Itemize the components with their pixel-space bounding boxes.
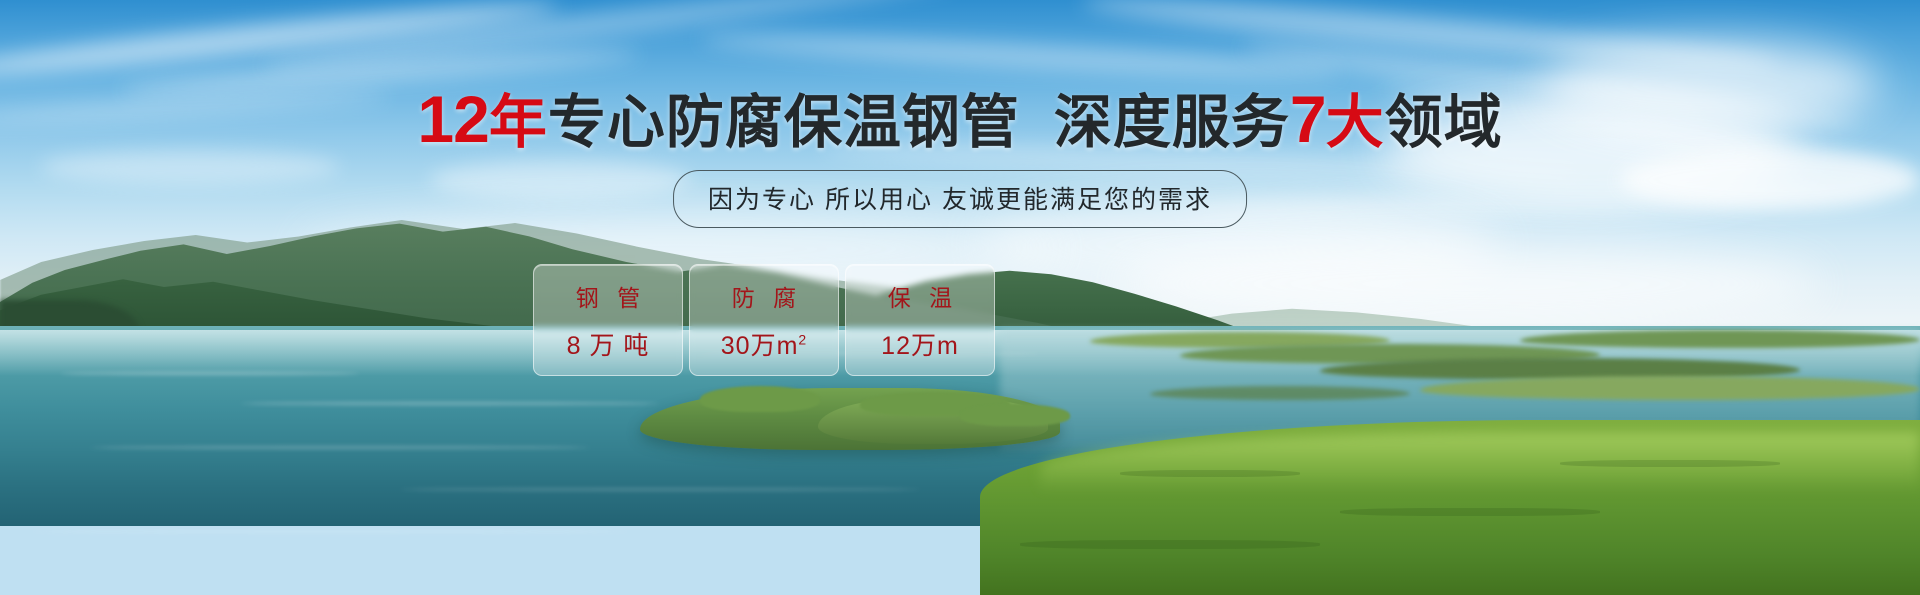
stat-card-group: 钢 管 8 万 吨 防 腐 30万m2 保 温 12万m [533,264,995,376]
headline-years-number: 12 [417,82,488,156]
stat-value-main: 30万m [721,332,799,360]
island-tuft [960,404,1070,426]
marsh-patch [1520,330,1920,348]
stat-card-value: 12万m [881,326,959,362]
headline-fields-number: 7 [1290,82,1326,156]
grass-texture [1560,460,1780,467]
cloud [1120,244,1820,324]
marsh-patch [1150,386,1410,400]
stat-card-steel-pipe[interactable]: 钢 管 8 万 吨 [533,264,683,376]
marsh-patch [1420,376,1920,400]
headline-years-unit: 年 [489,90,548,155]
water-ripple [400,488,920,491]
grass-texture [1340,508,1600,516]
cloud [1620,150,1920,210]
cloud [40,150,340,184]
water-ripple [240,402,660,405]
stat-value-superscript: 2 [798,331,807,347]
hero-banner: 12年专心防腐保温钢管深度服务7大领域 因为专心 所以用心 友诚更能满足您的需求… [0,0,1920,595]
water-ripple [90,446,590,449]
headline-main-text: 专心防腐保温钢管 [548,90,1020,155]
stat-card-label: 保 温 [882,279,958,313]
headline-service-text: 深度服务 [1054,90,1290,155]
grass-texture [1020,540,1320,549]
grass-texture [1120,470,1300,477]
page-title: 12年专心防腐保温钢管深度服务7大领域 [0,86,1920,152]
stat-card-anticorrosion[interactable]: 防 腐 30万m2 [689,264,839,376]
cloud [430,160,690,200]
stat-value-main: 12万m [881,332,959,360]
stat-card-insulation[interactable]: 保 温 12万m [845,264,995,376]
stat-card-label: 钢 管 [570,279,646,313]
water-ripple [30,530,630,533]
water-ripple [60,372,360,375]
stat-card-value: 8 万 吨 [567,326,650,362]
subtitle-pill: 因为专心 所以用心 友诚更能满足您的需求 [673,170,1247,228]
headline-fields-unit: 大 [1326,90,1385,155]
headline-fields-tail: 领域 [1385,90,1503,155]
stat-value-main: 8 万 吨 [567,332,650,360]
stat-card-label: 防 腐 [726,279,802,313]
island-tuft [700,386,820,412]
stat-card-value: 30万m2 [721,326,807,362]
